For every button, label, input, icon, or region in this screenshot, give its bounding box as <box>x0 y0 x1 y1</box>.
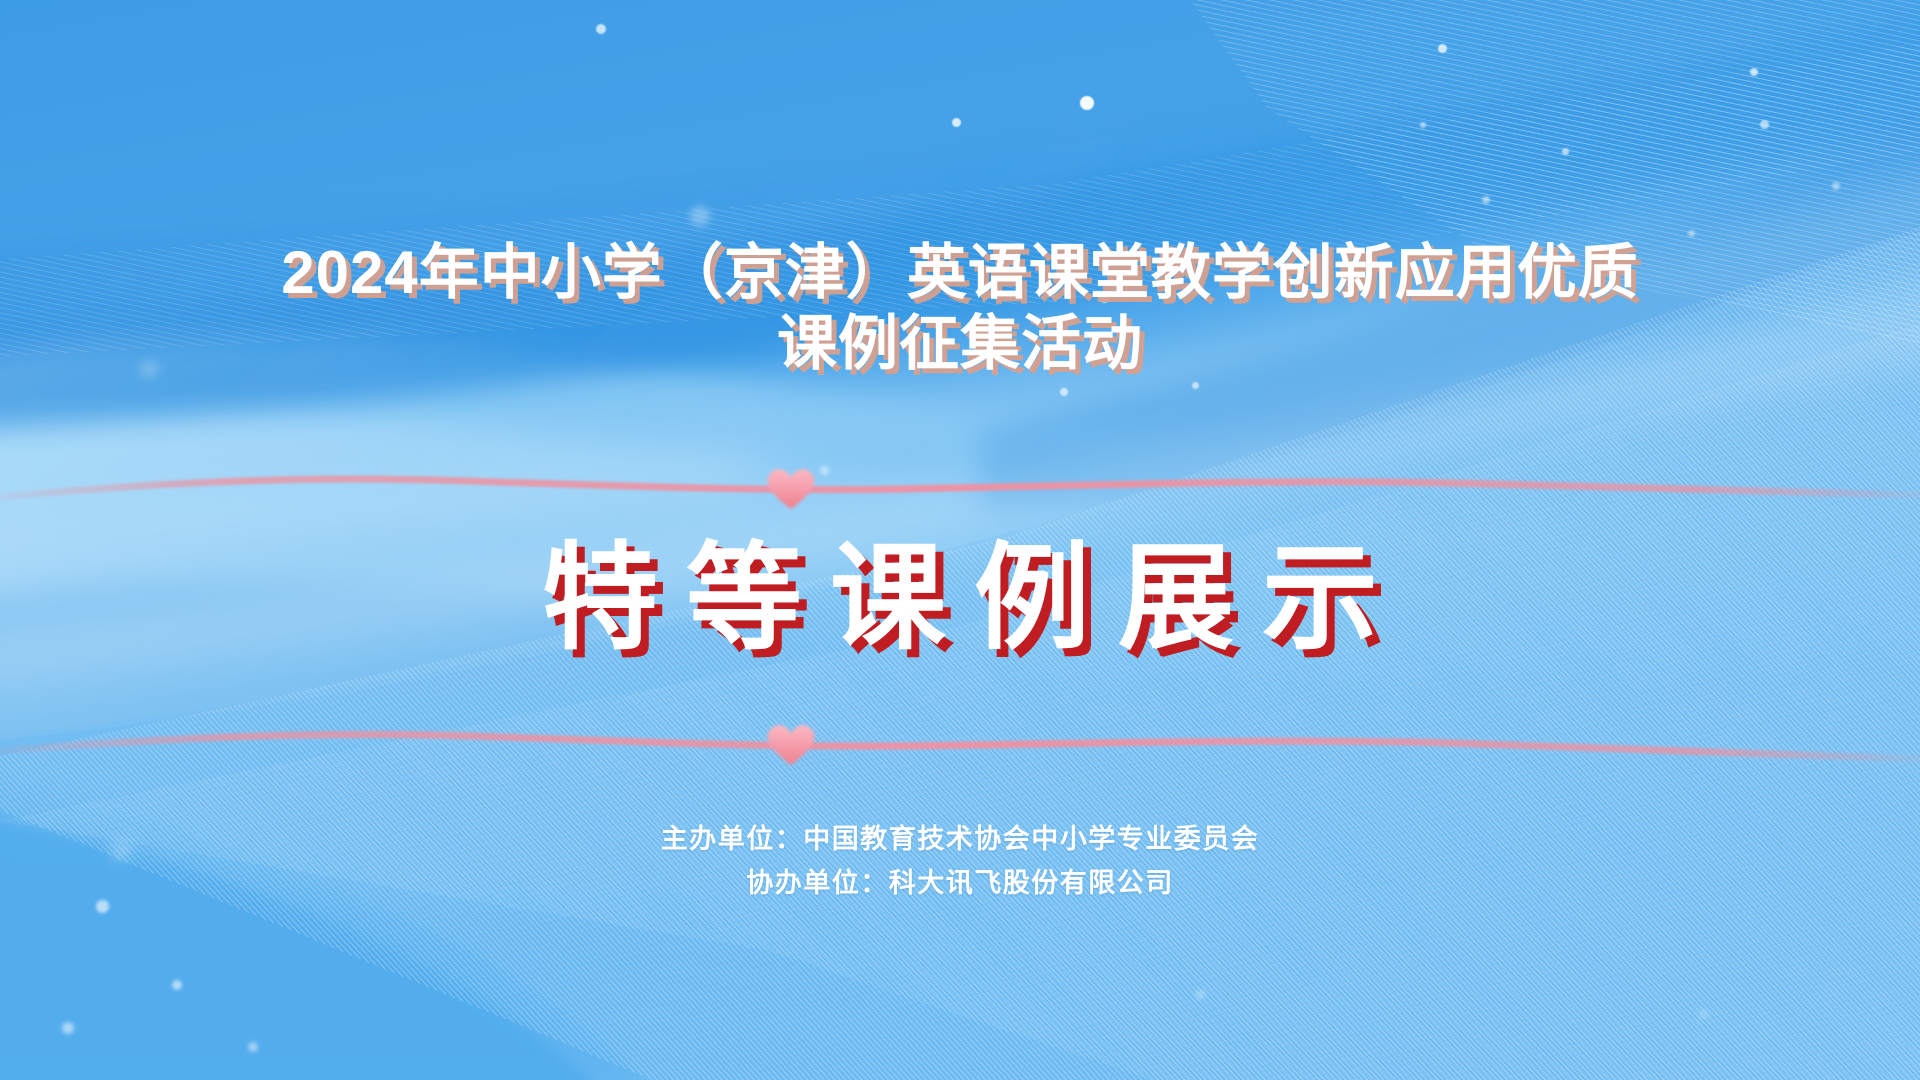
organizer-line-main: 主办单位：中国教育技术协会中小学专业委员会 <box>0 818 1920 862</box>
organizer-credits: 主办单位：中国教育技术协会中小学专业委员会 协办单位：科大讯飞股份有限公司 <box>0 818 1920 905</box>
subtitle-line-2: 课例征集活动 <box>0 309 1920 380</box>
organizer-line-co: 协办单位：科大讯飞股份有限公司 <box>0 862 1920 906</box>
divider-top <box>0 445 1920 535</box>
poster-slide: 2024年中小学（京津）英语课堂教学创新应用优质 课例征集活动 <box>0 0 1920 1080</box>
divider-bottom <box>0 705 1920 795</box>
subtitle-line-1: 2024年中小学（京津）英语课堂教学创新应用优质 <box>0 238 1920 309</box>
page-title: 特等课例展示 <box>0 535 1920 663</box>
heart-icon <box>768 469 815 509</box>
heart-icon <box>768 725 815 765</box>
poster-subtitle: 2024年中小学（京津）英语课堂教学创新应用优质 课例征集活动 <box>0 238 1920 380</box>
